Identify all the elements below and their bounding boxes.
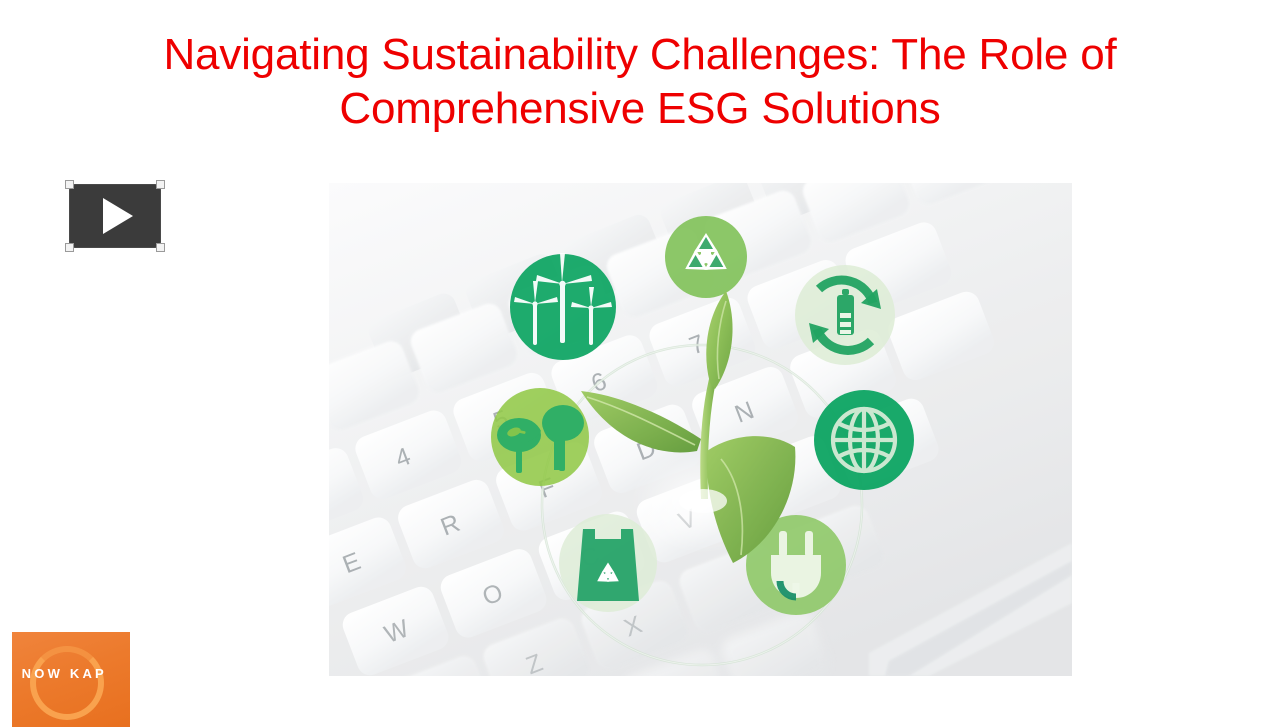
selection-handle-top-left[interactable] <box>65 180 74 189</box>
selection-handle-bottom-right[interactable] <box>156 243 165 252</box>
selection-handle-top-right[interactable] <box>156 180 165 189</box>
page-title: Navigating Sustainability Challenges: Th… <box>90 28 1190 135</box>
play-triangle-icon <box>103 198 133 234</box>
media-object-selection[interactable] <box>65 180 165 252</box>
brand-ring-icon <box>30 646 104 720</box>
selection-handle-bottom-left[interactable] <box>65 243 74 252</box>
play-button[interactable] <box>69 184 161 248</box>
brand-logo: S NOW KAP <box>12 632 130 727</box>
brand-name: S NOW KAP <box>12 666 130 681</box>
slide-image: $ 4 5 6 7 E R F D <box>329 183 1072 676</box>
